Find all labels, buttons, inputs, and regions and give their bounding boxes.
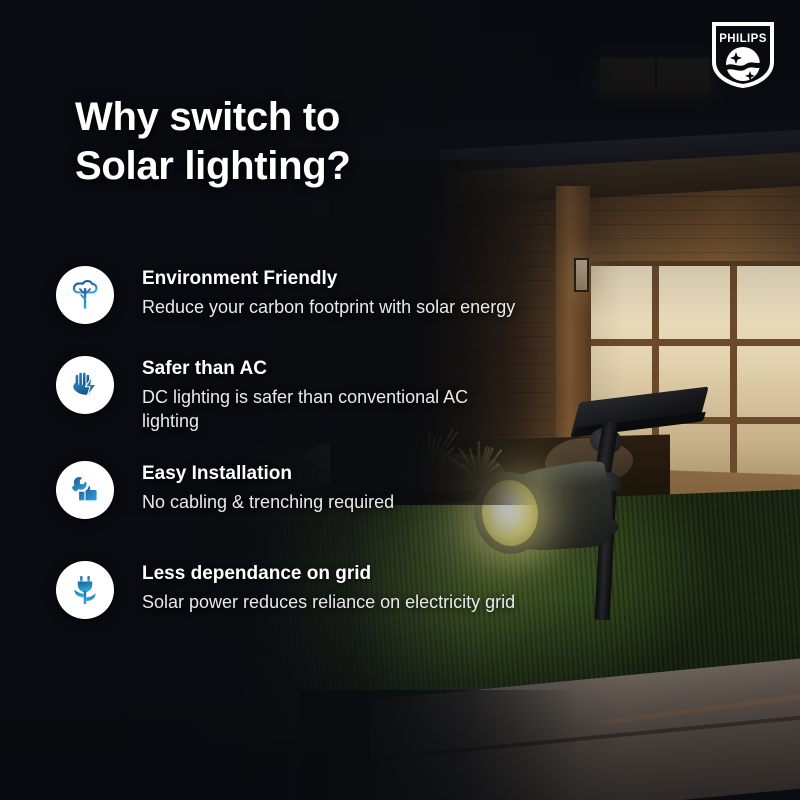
feature-item-easy-installation: Easy Installation No cabling & trenching… [56, 461, 526, 519]
feature-item-less-dependance-on-grid: Less dependance on grid Solar power redu… [56, 561, 526, 619]
feature-heading: Safer than AC [142, 358, 526, 381]
feature-icon-badge [56, 356, 114, 414]
feature-heading: Environment Friendly [142, 268, 515, 291]
title-line-2: Solar lighting? [75, 142, 495, 191]
feature-heading: Less dependance on grid [142, 563, 515, 586]
tree-icon [68, 278, 102, 312]
feature-description: No cabling & trenching required [142, 491, 394, 515]
wrench-thumbsup-icon [68, 473, 102, 507]
philips-shield-logo: PHILIPS [712, 22, 774, 88]
poster: PHILIPS Why switch to Solar lighting? [0, 0, 800, 800]
title-line-1: Why switch to [75, 95, 340, 139]
feature-heading: Easy Installation [142, 463, 394, 486]
feature-item-environment-friendly: Environment Friendly Reduce your carbon … [56, 266, 526, 324]
hand-lightning-icon [68, 368, 102, 402]
feature-item-safer-than-ac: Safer than AC DC lighting is safer than … [56, 356, 526, 433]
feature-description: Reduce your carbon footprint with solar … [142, 296, 515, 320]
feature-icon-badge [56, 266, 114, 324]
feature-text: Easy Installation No cabling & trenching… [142, 461, 394, 515]
feature-description: Solar power reduces reliance on electric… [142, 591, 515, 615]
feature-list: Environment Friendly Reduce your carbon … [56, 266, 526, 647]
feature-text: Environment Friendly Reduce your carbon … [142, 266, 515, 320]
plug-leaf-icon [68, 573, 102, 607]
feature-icon-badge [56, 461, 114, 519]
feature-text: Less dependance on grid Solar power redu… [142, 561, 515, 615]
feature-icon-badge [56, 561, 114, 619]
philips-wordmark: PHILIPS [719, 33, 767, 45]
page-title: Why switch to Solar lighting? [75, 93, 495, 191]
content-layer: PHILIPS Why switch to Solar lighting? [0, 0, 800, 800]
feature-description: DC lighting is safer than conventional A… [142, 386, 526, 434]
feature-text: Safer than AC DC lighting is safer than … [142, 356, 526, 433]
